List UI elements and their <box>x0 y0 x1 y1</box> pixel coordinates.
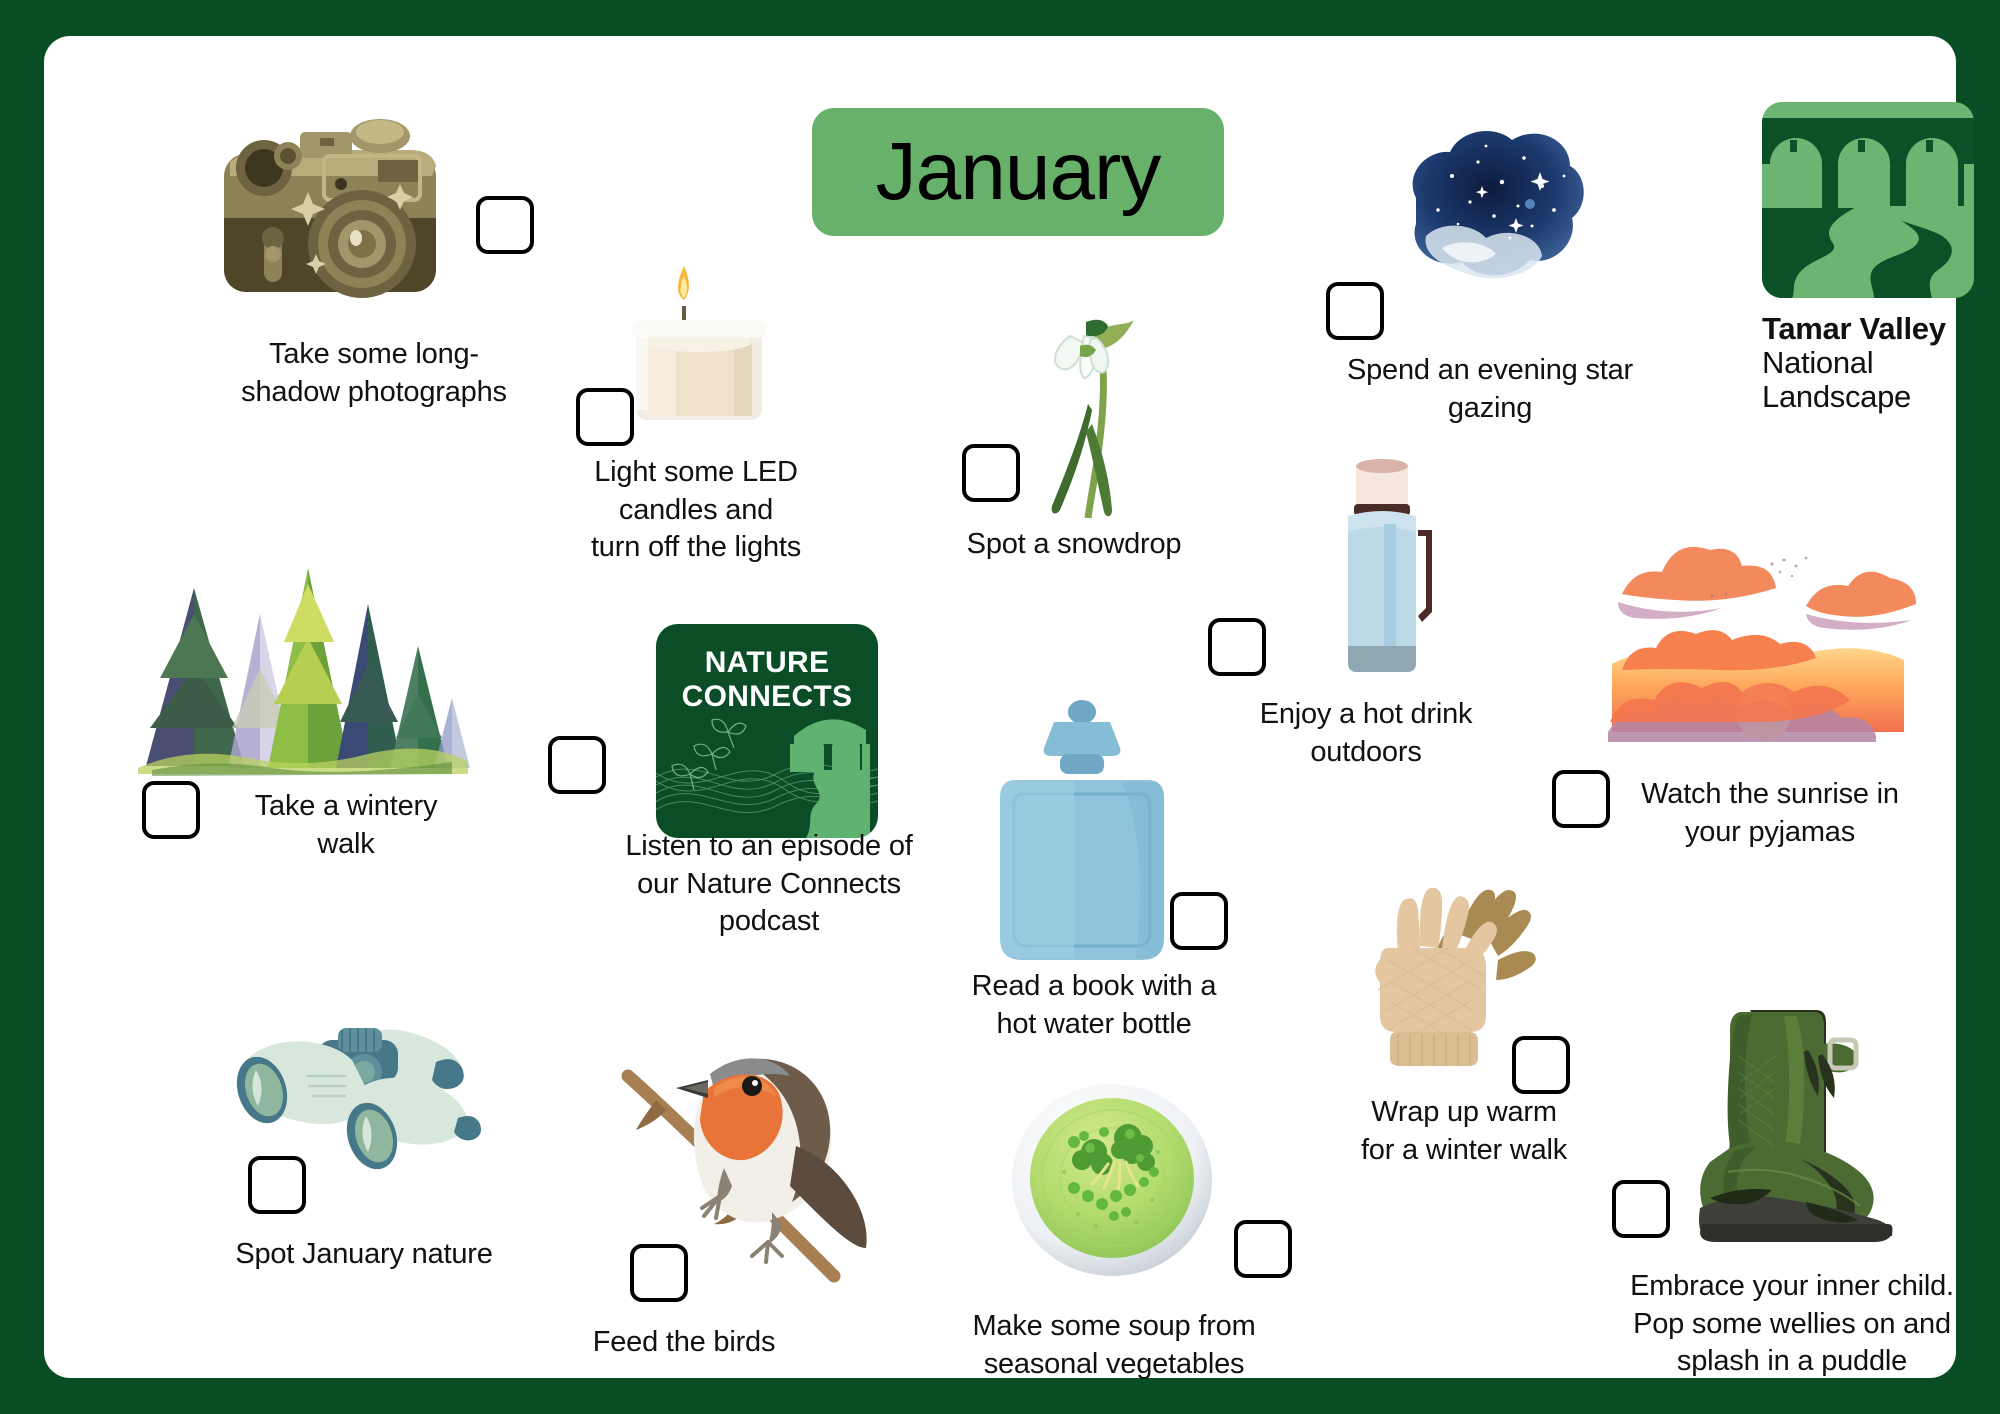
checkbox-wintery-walk[interactable] <box>142 781 200 839</box>
logo-line-3: Landscape <box>1762 380 1974 414</box>
checkbox-wrap-up-warm[interactable] <box>1512 1036 1570 1094</box>
knitted-gloves-illustration <box>1362 856 1552 1066</box>
checkbox-spot-january-nature[interactable] <box>248 1156 306 1214</box>
label-long-shadow-photographs: Take some long- shadow photographs <box>194 336 554 411</box>
pine-forest-illustration <box>132 518 472 778</box>
starry-night-sky-illustration <box>1382 114 1602 294</box>
checkbox-make-seasonal-soup[interactable] <box>1234 1220 1292 1278</box>
candle-jar-illustration <box>616 258 776 428</box>
label-hot-drink-outdoors: Enjoy a hot drink outdoors <box>1196 696 1536 771</box>
podcast-title-line-1: NATURE <box>656 646 878 680</box>
label-nature-connects-podcast: Listen to an episode of our Nature Conne… <box>584 828 954 941</box>
checkbox-led-candles[interactable] <box>576 388 634 446</box>
sunrise-clouds-illustration <box>1592 536 1922 756</box>
checkbox-nature-connects-podcast[interactable] <box>548 736 606 794</box>
checkbox-spot-a-snowdrop[interactable] <box>962 444 1020 502</box>
podcast-title-line-2: CONNECTS <box>656 680 878 714</box>
hot-water-bottle-illustration <box>992 696 1172 976</box>
logo-wordmark: Tamar Valley National Landscape <box>1762 312 1974 414</box>
thermos-flask-illustration <box>1322 454 1472 684</box>
checkbox-evening-star-gazing[interactable] <box>1326 282 1384 340</box>
activity-card: January <box>44 36 1956 1378</box>
vintage-camera-illustration <box>204 96 454 311</box>
checkbox-read-with-hot-water-bottle[interactable] <box>1170 892 1228 950</box>
label-wrap-up-warm: Wrap up warm for a winter walk <box>1314 1094 1614 1169</box>
tamar-valley-logo: Tamar Valley National Landscape <box>1762 102 1974 422</box>
label-feed-the-birds: Feed the birds <box>514 1324 854 1362</box>
checkbox-splash-in-a-puddle[interactable] <box>1612 1180 1670 1238</box>
label-watch-the-sunrise: Watch the sunrise in your pyjamas <box>1620 776 1920 851</box>
checkbox-hot-drink-outdoors[interactable] <box>1208 618 1266 676</box>
logo-line-1: Tamar Valley <box>1762 312 1974 346</box>
label-read-with-hot-water-bottle: Read a book with a hot water bottle <box>924 968 1264 1043</box>
label-splash-in-a-puddle: Embrace your inner child. Pop some welli… <box>1582 1268 2000 1381</box>
podcast-title: NATURE CONNECTS <box>656 646 878 714</box>
checkbox-long-shadow-photographs[interactable] <box>476 196 534 254</box>
month-title-banner: January <box>812 108 1224 236</box>
label-wintery-walk: Take a wintery walk <box>196 788 496 863</box>
label-spot-a-snowdrop: Spot a snowdrop <box>904 526 1244 564</box>
label-evening-star-gazing: Spend an evening star gazing <box>1300 352 1680 427</box>
snowdrop-flower-illustration <box>1014 284 1164 524</box>
logo-line-2: National <box>1762 346 1974 380</box>
green-soup-bowl-illustration <box>1002 1080 1222 1280</box>
page-title: January <box>876 125 1161 219</box>
checkbox-feed-the-birds[interactable] <box>630 1244 688 1302</box>
viaduct-logo-icon <box>1762 102 1974 298</box>
checkbox-watch-the-sunrise[interactable] <box>1552 770 1610 828</box>
label-spot-january-nature: Spot January nature <box>154 1236 574 1274</box>
wellington-boots-illustration <box>1680 996 1900 1246</box>
label-led-candles: Light some LED candles and turn off the … <box>536 454 856 567</box>
nature-connects-podcast-logo: NATURE CONNECTS <box>656 624 878 838</box>
label-make-seasonal-soup: Make some soup from seasonal vegetables <box>944 1308 1284 1383</box>
